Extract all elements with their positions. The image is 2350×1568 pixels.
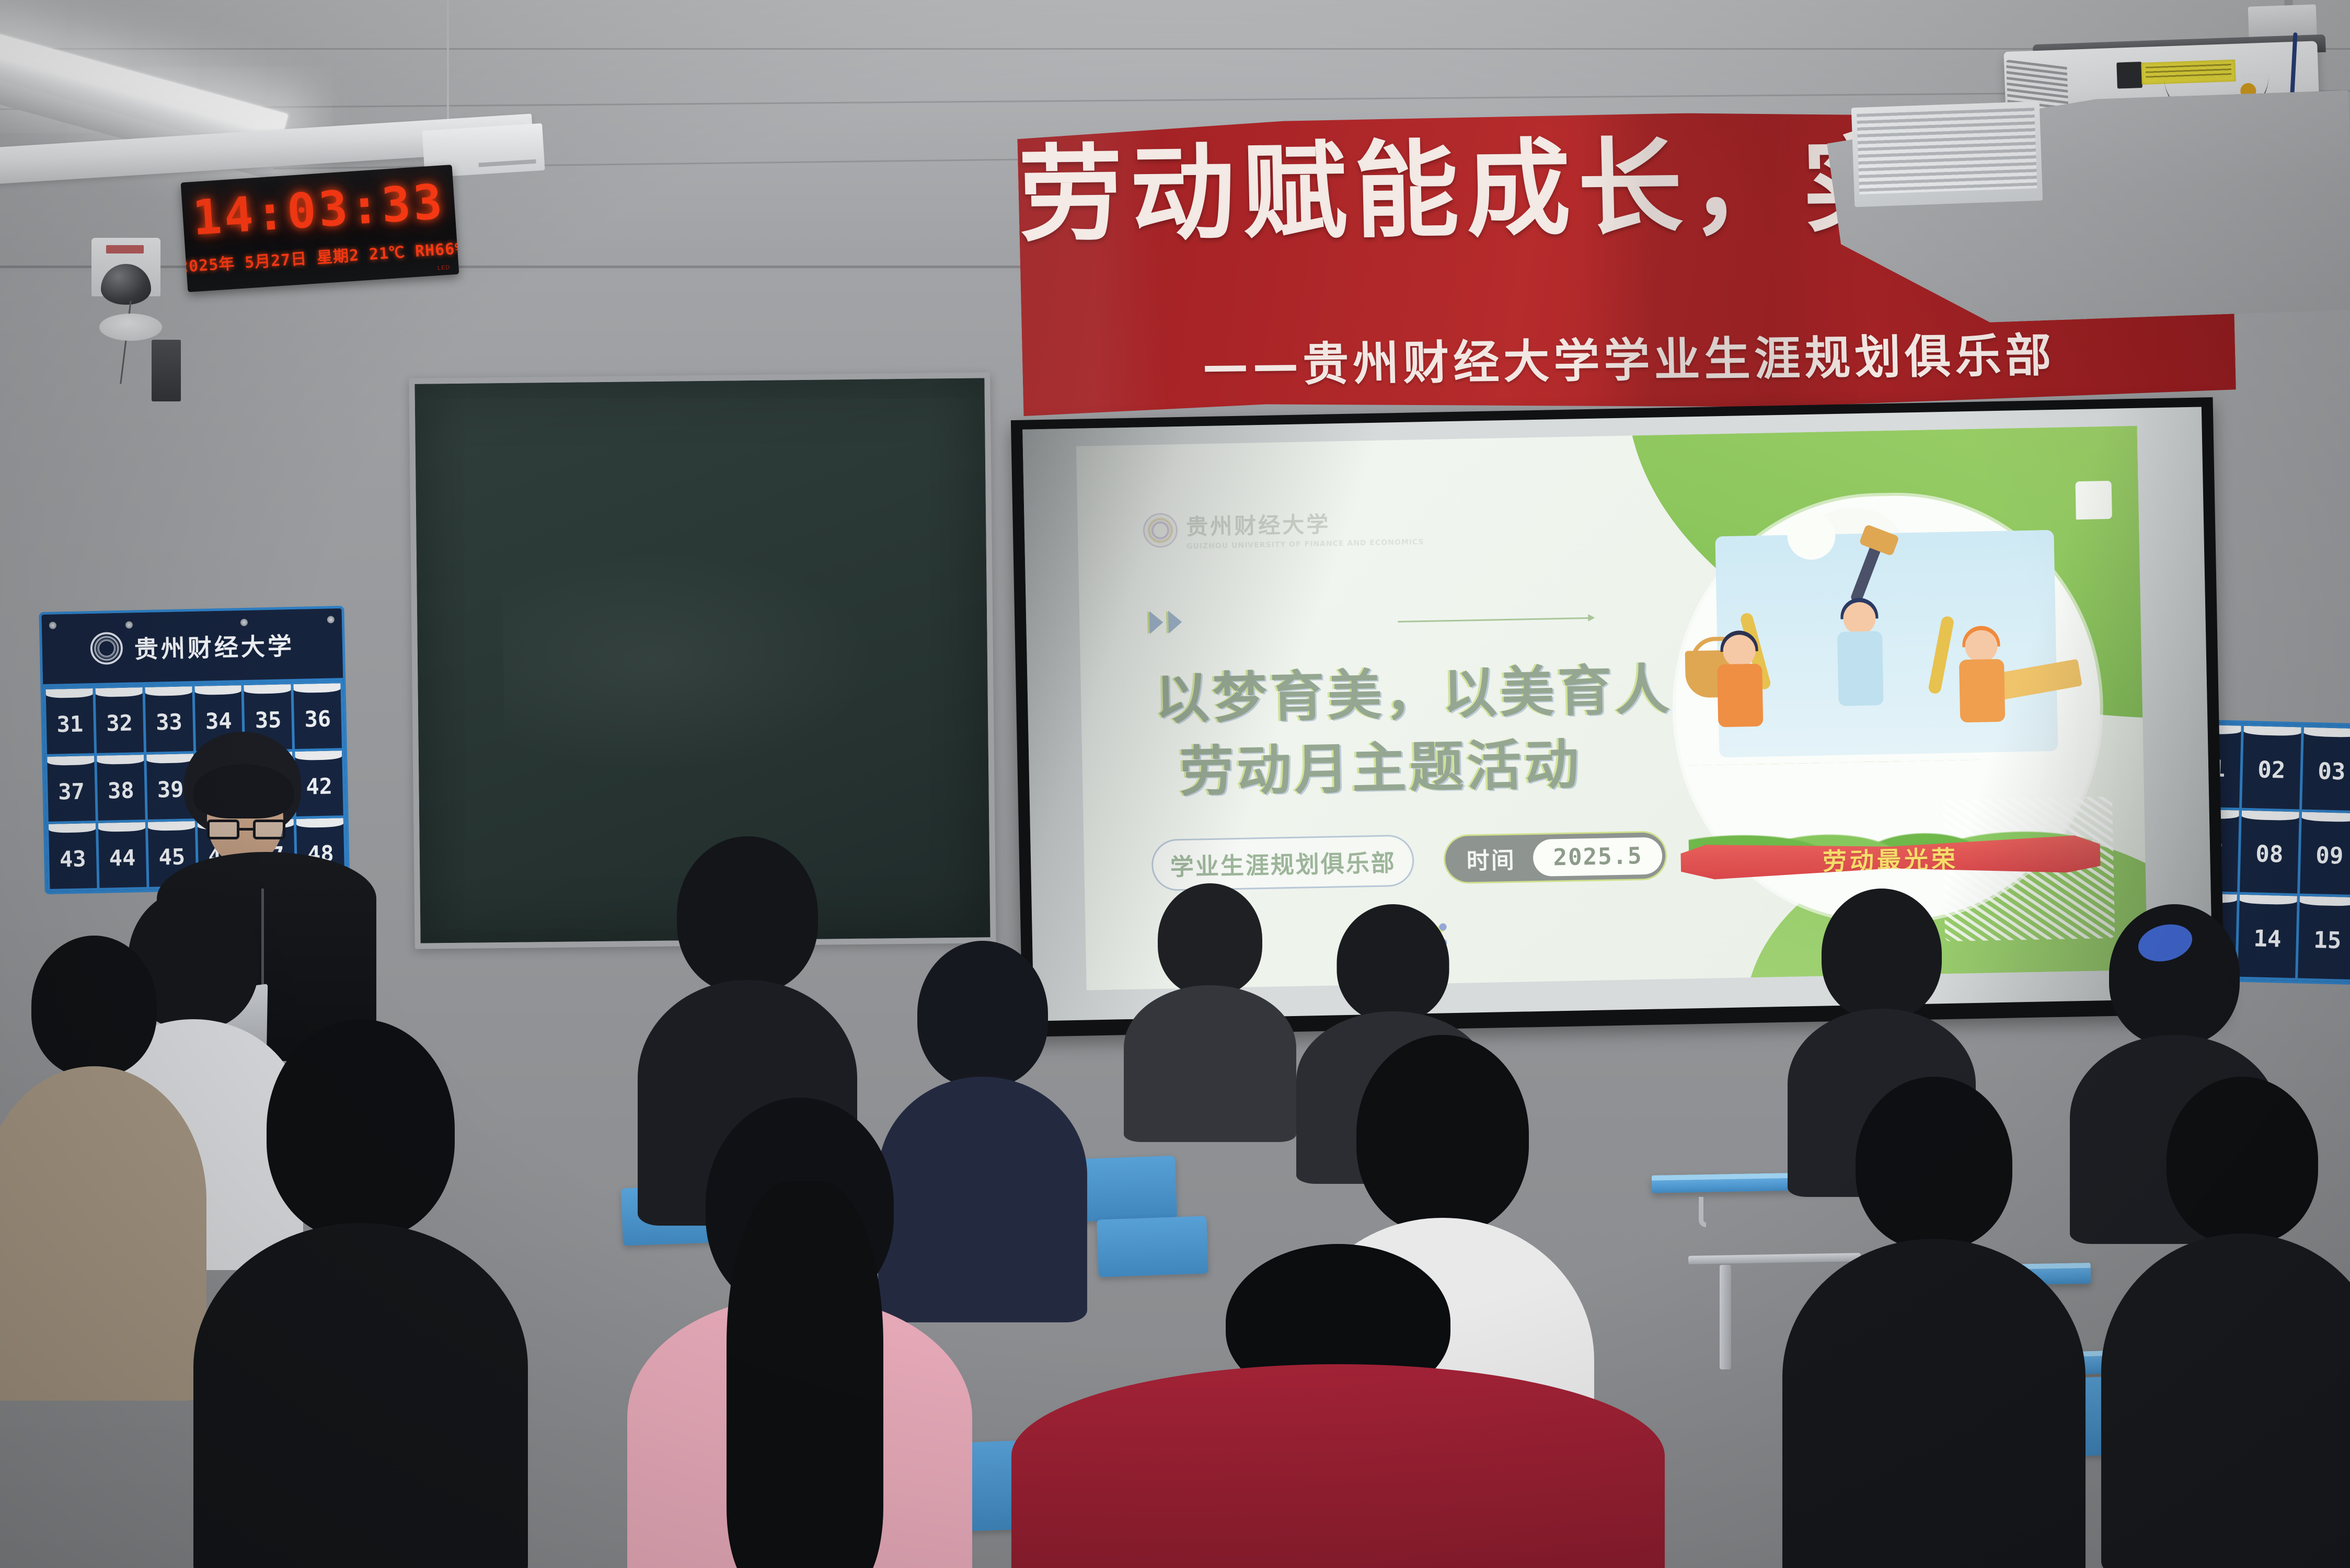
screen-drop-wire [447, 0, 449, 131]
worker-body [1837, 631, 1884, 706]
head-silhouette [1356, 1035, 1529, 1233]
double-chevron-right-icon [1149, 610, 1182, 634]
chalk-smudge [502, 547, 880, 775]
shoulders-silhouette [193, 1223, 528, 1568]
organizer-pocket[interactable]: 38 [97, 755, 145, 821]
organizer-pocket-number: 03 [2318, 758, 2346, 785]
organizer-pocket-number: 44 [109, 845, 136, 871]
organizer-pocket[interactable]: 31 [46, 688, 94, 754]
organizer-pocket[interactable]: 08 [2240, 810, 2299, 893]
chevron-right-icon [1168, 610, 1182, 633]
slide-divider-arrow [1398, 617, 1588, 622]
smoke-detector-icon [99, 314, 162, 341]
led-wall-clock: 14:03:33 2025年 5月27日 星期2 21℃ RH66% LED [181, 165, 459, 292]
ceiling-seam [0, 48, 2350, 50]
organizer-pocket-number: 35 [255, 707, 282, 733]
clock-brand: LED [437, 264, 451, 272]
shoulders-silhouette [0, 1066, 206, 1401]
organizer-pocket-number: 43 [59, 846, 86, 872]
shoulders-silhouette [1124, 985, 1296, 1142]
desk-leg [1720, 1265, 1731, 1369]
worker-head [1965, 630, 1998, 663]
audience-member [1788, 1077, 2080, 1568]
organizer-pocket[interactable]: 32 [95, 687, 143, 753]
head-silhouette [267, 1019, 455, 1239]
audience-member [1124, 883, 1296, 1129]
university-seal-icon [90, 631, 123, 664]
head-silhouette [677, 836, 818, 993]
shoulders-silhouette [2101, 1233, 2350, 1568]
organizer-pocket[interactable]: 15 [2298, 896, 2350, 979]
organizer-pocket-number: 33 [156, 709, 183, 735]
slide-university-logo: 贵州财经大学 GUIZHOU UNIVERSITY OF FINANCE AND… [1143, 505, 1424, 551]
classroom-photo-stage: 14:03:33 2025年 5月27日 星期2 21℃ RH66% LED 贵… [0, 0, 2350, 1568]
slide-time-label: 时间 [1448, 838, 1534, 880]
clock-time: 14:03:33 [191, 174, 446, 246]
long-hair-silhouette [727, 1181, 883, 1568]
slide-time-badge: 时间 2025.5 [1445, 833, 1666, 883]
slide-title: 以梦育美，以美育人 劳动月主题活动 [1154, 653, 1674, 810]
roller-label [478, 159, 536, 167]
banner-subline: ——贵州财经大学学业生涯规划俱乐部 [1022, 316, 2236, 397]
worker-head [1723, 635, 1756, 667]
organizer-pocket[interactable]: 44 [98, 822, 146, 888]
slide-title-line2: 劳动月主题活动 [1179, 726, 1675, 809]
organizer-pocket[interactable]: 03 [2302, 728, 2350, 811]
organizer-pocket[interactable]: 37 [47, 756, 95, 822]
projector-port [2116, 62, 2142, 89]
slide-meta-row: 学业生涯规划俱乐部 时间 2025.5 [1151, 829, 1666, 891]
worker-body [1959, 659, 2005, 723]
shoulders-silhouette [1011, 1364, 1665, 1568]
audience-member [199, 1019, 523, 1568]
slide-logo-cn: 贵州财经大学 [1186, 511, 1331, 539]
head-silhouette [1158, 883, 1262, 996]
worker-head [1843, 602, 1876, 635]
audience-member [2106, 1077, 2350, 1568]
slide-title-line1: 以梦育美，以美育人 [1155, 658, 1673, 731]
organizer-pocket[interactable]: 43 [49, 823, 97, 889]
head-silhouette [1856, 1077, 2012, 1249]
organizer-pocket-number: 02 [2257, 756, 2286, 783]
organizer-pocket-number: 09 [2316, 843, 2344, 870]
presenter-fringe [193, 764, 294, 818]
glasses-icon [207, 820, 285, 840]
worker-body [1717, 664, 1763, 728]
audience-member [0, 936, 204, 1406]
head-silhouette [1822, 889, 1942, 1019]
head-silhouette [1337, 904, 1449, 1022]
organizer-pocket-number: 36 [304, 706, 331, 732]
chevron-right-icon [1149, 610, 1163, 633]
organizer-header: 贵州财经大学 [42, 608, 343, 687]
head-silhouette [917, 941, 1048, 1087]
organizer-pocket-number: 31 [56, 711, 84, 737]
air-conditioner-unit-front [1851, 101, 2043, 207]
camera-label [106, 245, 144, 253]
university-seal-icon [1143, 513, 1178, 548]
organizer-pocket-number: 15 [2313, 927, 2342, 954]
head-silhouette [31, 936, 157, 1077]
organizer-pocket-number: 37 [58, 778, 85, 804]
desk-hook-icon [1699, 1197, 1706, 1227]
organizer-pocket[interactable]: 02 [2242, 726, 2301, 809]
organizer-pocket-number: 08 [2255, 841, 2284, 868]
organizer-university-name: 贵州财经大学 [134, 627, 294, 664]
slide-logo-text: 贵州财经大学 GUIZHOU UNIVERSITY OF FINANCE AND… [1186, 505, 1424, 551]
organizer-pocket-number: 32 [106, 710, 133, 736]
slide-illustration: 劳动最光荣 [1683, 514, 2093, 903]
slide-logo-en: GUIZHOU UNIVERSITY OF FINANCE AND ECONOM… [1186, 538, 1424, 551]
head-silhouette [2167, 1077, 2318, 1244]
shoulders-silhouette [1782, 1239, 2086, 1568]
slide-time-value: 2025.5 [1533, 837, 1663, 877]
audience-member-front [1019, 1244, 1657, 1568]
wall-switch[interactable] [152, 340, 181, 401]
organizer-pocket-number: 38 [108, 777, 135, 803]
organizer-pocket-number: 34 [205, 708, 232, 734]
organizer-pocket[interactable]: 09 [2300, 812, 2350, 895]
slide-org-badge: 学业生涯规划俱乐部 [1151, 835, 1415, 892]
